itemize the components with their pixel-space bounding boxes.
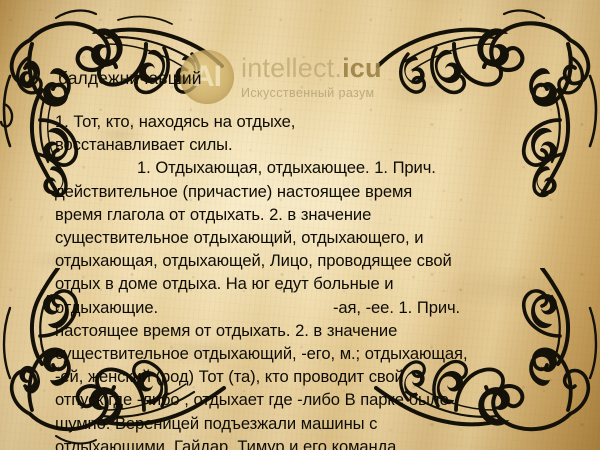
line-text: действительное (причастие) настоящее вре…: [55, 182, 412, 201]
line-text: 1. Тот, кто, находясь на отдыхе,: [55, 112, 295, 131]
definition-line: -ей, женский (род) Тот (та), кто проводи…: [55, 365, 552, 388]
line-text: -ей, женский (род) Тот (та), кто проводи…: [55, 367, 404, 386]
headword: балдежничавший: [58, 68, 202, 89]
line-text: настоящее время от отдыхать. 2. в значен…: [55, 321, 397, 340]
line-text: отдыхающими. Гайдар, Тимур и его команда…: [55, 437, 401, 450]
definition-line: существительное отдыхающий, -его, м.; от…: [55, 342, 552, 365]
definition-line: отпуск где -либо , отдыхает где -либо В …: [55, 388, 552, 411]
line-text: отдых в доме отдыха. На юг едут больные …: [55, 274, 393, 293]
definition-line: отдыхающая, отдыхающей, Лицо, проводящее…: [55, 249, 552, 272]
definition-body: 1. Тот, кто, находясь на отдыхе, восстан…: [55, 110, 552, 450]
parchment-page: AI intellect.icu Искусственный разум бал…: [0, 0, 600, 450]
definition-line: действительное (причастие) настоящее вре…: [55, 180, 552, 203]
line-text: восстанавливает силы.: [55, 135, 233, 154]
line-text: шумно. Вереницей подъезжали машины с: [55, 414, 377, 433]
line-text: -ая, -ее. 1. Прич.: [333, 298, 460, 317]
line-text: существительное отдыхающий, отдыхающего,…: [55, 228, 423, 247]
definition-line: 1. Отдыхающая, отдыхающее. 1. Прич.: [55, 156, 552, 179]
line-text: отдыхающая, отдыхающей, Лицо, проводящее…: [55, 251, 452, 270]
dictionary-article: балдежничавший 1. Тот, кто, находясь на …: [0, 0, 600, 450]
line-text: отпуск где -либо , отдыхает где -либо В …: [55, 390, 449, 409]
definition-line: существительное отдыхающий, отдыхающего,…: [55, 226, 552, 249]
line-text: время глагола от отдыхать. 2. в значение: [55, 205, 371, 224]
definition-line: 1. Тот, кто, находясь на отдыхе,: [55, 110, 552, 133]
line-text: 1. Отдыхающая, отдыхающее. 1. Прич.: [137, 158, 436, 177]
line-text: существительное отдыхающий, -его, м.; от…: [55, 344, 467, 363]
definition-line: отдыхающими. Гайдар, Тимур и его команда…: [55, 435, 552, 450]
definition-line: время глагола от отдыхать. 2. в значение: [55, 203, 552, 226]
definition-line: шумно. Вереницей подъезжали машины с: [55, 412, 552, 435]
definition-line: настоящее время от отдыхать. 2. в значен…: [55, 319, 552, 342]
definition-line: восстанавливает силы.: [55, 133, 552, 156]
definition-line: отдых в доме отдыха. На юг едут больные …: [55, 272, 552, 295]
definition-line: отдыхающие.-ая, -ее. 1. Прич.: [55, 296, 552, 319]
line-text: отдыхающие.: [55, 298, 158, 317]
